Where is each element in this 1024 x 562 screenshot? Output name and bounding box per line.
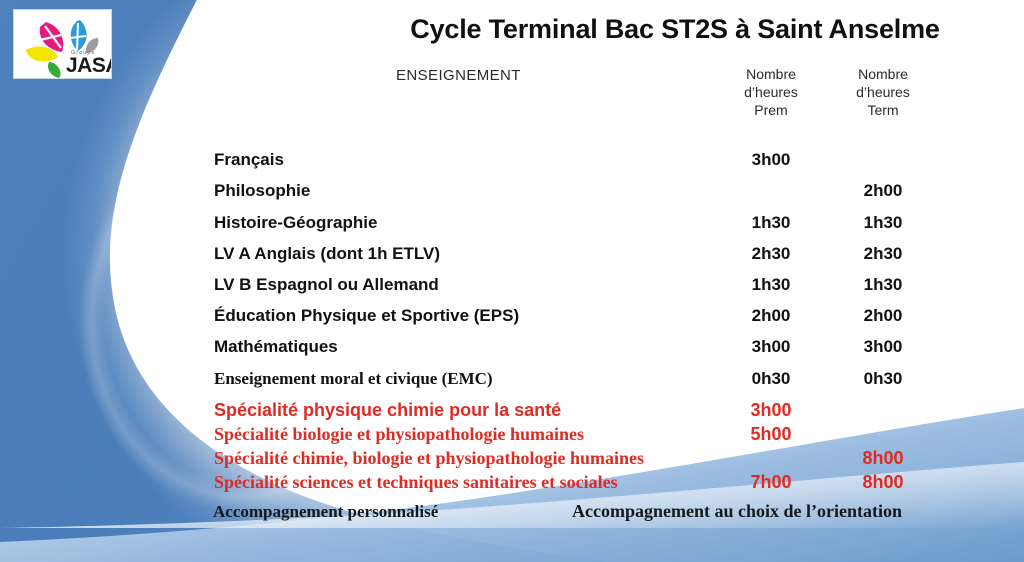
row-hours-prem: 7h00 xyxy=(716,472,826,493)
row-subject-label: Mathématiques xyxy=(214,337,338,357)
row-hours-term: 2h00 xyxy=(828,181,938,201)
table-row: Français3h00 xyxy=(0,150,1024,174)
row-hours-term: 2h30 xyxy=(828,244,938,264)
row-subject-label: Enseignement moral et civique (EMC) xyxy=(214,369,493,389)
slide: Groupe JASA Cycle Terminal Bac ST2S à Sa… xyxy=(0,0,1024,562)
row-subject-label: LV A Anglais (dont 1h ETLV) xyxy=(214,244,440,264)
row-hours-prem: 2h00 xyxy=(716,306,826,326)
row-hours-prem: 1h30 xyxy=(716,213,826,233)
row-hours-prem: 3h00 xyxy=(716,400,826,421)
row-subject-label: Philosophie xyxy=(214,181,310,201)
row-hours-term: 1h30 xyxy=(828,275,938,295)
row-subject-label: Spécialité sciences et techniques sanita… xyxy=(214,472,618,493)
row-hours-prem: 0h30 xyxy=(716,369,826,389)
table-row: Mathématiques3h003h00 xyxy=(0,337,1024,361)
row-hours-prem: 3h00 xyxy=(716,337,826,357)
row-hours-term: 1h30 xyxy=(828,213,938,233)
row-hours-term: 8h00 xyxy=(828,472,938,493)
table-row: LV A Anglais (dont 1h ETLV)2h302h30 xyxy=(0,244,1024,268)
row-hours-term: 8h00 xyxy=(828,448,938,469)
row-subject-label: Spécialité physique chimie pour la santé xyxy=(214,400,561,421)
table-row: Spécialité sciences et techniques sanita… xyxy=(0,472,1024,496)
table-row: Philosophie2h00 xyxy=(0,181,1024,205)
footer-accompagnement-personnalise: Accompagnement personnalisé xyxy=(213,502,438,522)
table-row: Histoire-Géographie1h301h30 xyxy=(0,213,1024,237)
row-hours-term: 0h30 xyxy=(828,369,938,389)
row-hours-term: 3h00 xyxy=(828,337,938,357)
subjects-table: Français3h00Philosophie2h00Histoire-Géog… xyxy=(0,0,1024,562)
row-hours-prem: 5h00 xyxy=(716,424,826,445)
row-subject-label: Spécialité biologie et physiopathologie … xyxy=(214,424,584,445)
table-row: Spécialité physique chimie pour la santé… xyxy=(0,400,1024,424)
row-subject-label: Éducation Physique et Sportive (EPS) xyxy=(214,306,519,326)
table-row: Spécialité chimie, biologie et physiopat… xyxy=(0,448,1024,472)
table-row: Éducation Physique et Sportive (EPS)2h00… xyxy=(0,306,1024,330)
row-hours-term: 2h00 xyxy=(828,306,938,326)
row-hours-prem: 2h30 xyxy=(716,244,826,264)
table-row: Enseignement moral et civique (EMC)0h300… xyxy=(0,369,1024,393)
row-subject-label: LV B Espagnol ou Allemand xyxy=(214,275,439,295)
row-subject-label: Français xyxy=(214,150,284,170)
table-row: LV B Espagnol ou Allemand1h301h30 xyxy=(0,275,1024,299)
footer-accompagnement-orientation: Accompagnement au choix de l’orientation xyxy=(572,501,902,522)
row-subject-label: Histoire-Géographie xyxy=(214,213,377,233)
row-hours-prem: 1h30 xyxy=(716,275,826,295)
table-row: Spécialité biologie et physiopathologie … xyxy=(0,424,1024,448)
row-subject-label: Spécialité chimie, biologie et physiopat… xyxy=(214,448,644,469)
row-hours-prem: 3h00 xyxy=(716,150,826,170)
